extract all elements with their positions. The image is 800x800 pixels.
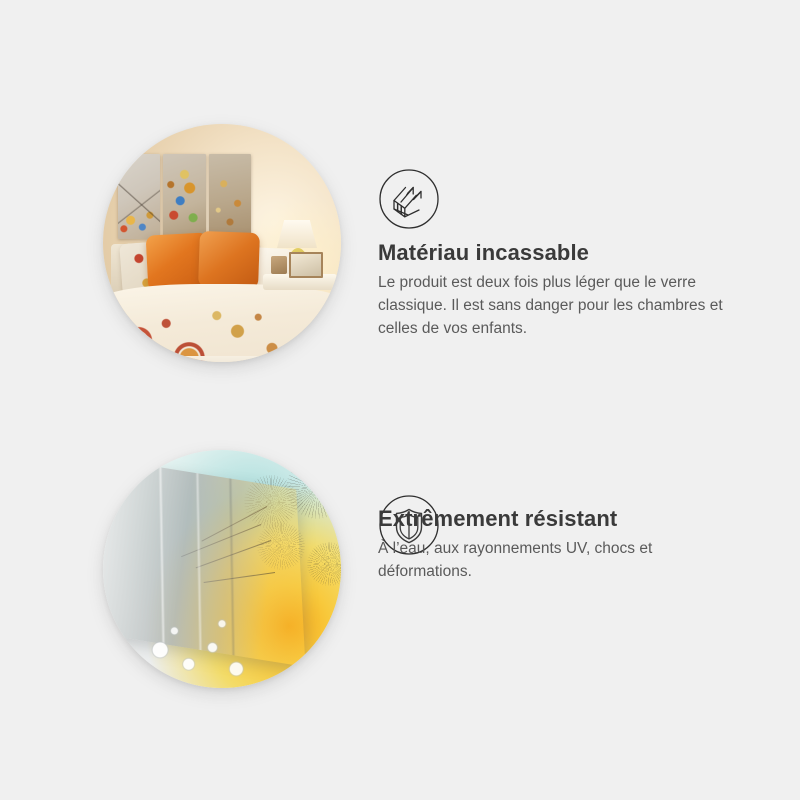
circular-photo-dandelion: [103, 450, 341, 688]
triptych-wall-art: [118, 154, 251, 239]
feature-image-2: [103, 450, 341, 688]
feature-highlights-page: Matériau incassable Le produit est deux …: [0, 0, 800, 800]
feature-description-1: Le produit est deux fois plus léger que …: [378, 272, 750, 341]
feature-description-2: À l’eau, aux rayonnements UV, chocs et d…: [378, 538, 750, 584]
bed-base: [143, 356, 263, 362]
feature-title-2: Extrêmement résistant: [378, 506, 758, 531]
bendable-panel-arrows-icon: [378, 168, 440, 230]
feature-block-2: Extrêmement résistant À l’eau, aux rayon…: [0, 436, 800, 706]
dandelion-glass-scene: [103, 450, 341, 688]
art-panel-left: [118, 154, 160, 239]
feature-title-1: Matériau incassable: [378, 240, 758, 265]
decor-box: [271, 256, 287, 274]
water-droplets: [103, 450, 341, 688]
orange-pillow-right: [198, 231, 260, 289]
paisley-pattern: [111, 300, 341, 362]
art-panel-right: [209, 154, 251, 239]
feature-image-1: [103, 124, 341, 362]
feature-text-2: Extrêmement résistant À l’eau, aux rayon…: [378, 506, 758, 584]
feature-block-1: Matériau incassable Le produit est deux …: [0, 110, 800, 380]
circular-photo-bedroom: [103, 124, 341, 362]
art-panel-center: [163, 154, 205, 239]
picture-frame: [289, 252, 323, 278]
bedroom-scene: [103, 124, 341, 362]
feature-text-1: Matériau incassable Le produit est deux …: [378, 240, 758, 341]
